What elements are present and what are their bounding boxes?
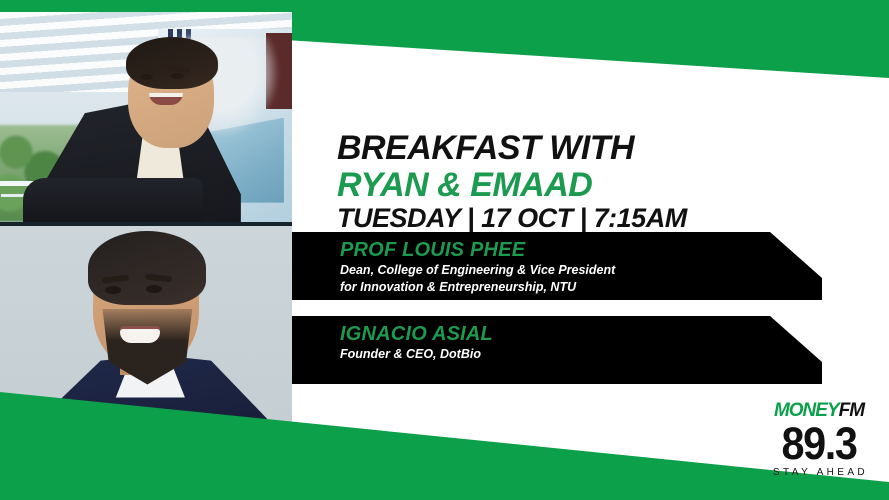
speaker-role-line-1: Founder & CEO, DotBio: [340, 347, 822, 362]
speaker-name: IGNACIO ASIAL: [340, 324, 822, 345]
person1-hair: [126, 37, 218, 89]
speaker-role-line-2: for Innovation & Entrepreneurship, NTU: [340, 280, 822, 295]
speaker-bar-content: IGNACIO ASIAL Founder & CEO, DotBio: [292, 316, 822, 362]
speaker-name: PROF LOUIS PHEE: [340, 240, 822, 261]
speaker-bar: PROF LOUIS PHEE Dean, College of Enginee…: [292, 232, 822, 300]
radio-show-promo-poster: BREAKFAST WITH RYAN & EMAAD TUESDAY | 17…: [0, 0, 889, 500]
logo-tagline: STAY AHEAD: [766, 468, 875, 478]
headline-show-title: BREAKFAST WITH: [337, 131, 857, 165]
headline-datetime: TUESDAY | 17 OCT | 7:15AM: [337, 205, 857, 232]
person2-eye-right: [146, 285, 162, 293]
person2-eye-left: [105, 286, 121, 294]
speaker-role-line-1: Dean, College of Engineering & Vice Pres…: [340, 263, 822, 278]
moneyfm-logo: MONEYFM 89.3 STAY AHEAD: [763, 401, 875, 478]
headline-block: BREAKFAST WITH RYAN & EMAAD TUESDAY | 17…: [337, 131, 857, 232]
speaker-bar-content: PROF LOUIS PHEE Dean, College of Enginee…: [292, 232, 822, 296]
person1-eye-left: [140, 74, 153, 80]
photo-prof-louis-phee: [0, 12, 292, 222]
headline-host-names: RYAN & EMAAD: [337, 168, 857, 202]
person2-smile: [120, 329, 160, 343]
person1-eye-right: [171, 73, 184, 79]
person1-crossed-arms: [23, 178, 203, 222]
person2-hair: [88, 231, 206, 305]
logo-frequency: 89.3: [767, 421, 870, 466]
speaker-bar: IGNACIO ASIAL Founder & CEO, DotBio: [292, 316, 822, 384]
